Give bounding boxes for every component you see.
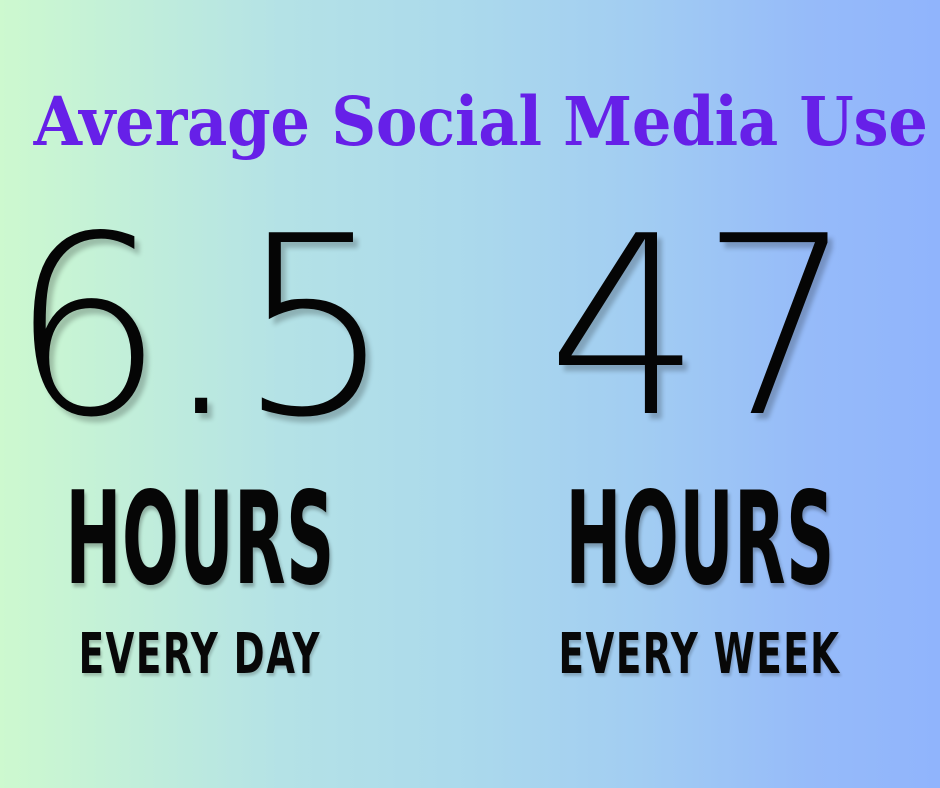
title-container: Average Social Media Use	[0, 88, 940, 155]
stat-unit-weekly: HOURS	[565, 493, 834, 588]
stat-value-weekly: 47	[547, 232, 852, 425]
stats-row: 6.5 HOURS EVERY DAY 47 HOURS EVERY WEEK	[0, 232, 940, 679]
stat-value-daily: 6.5	[10, 232, 391, 425]
stat-block-weekly: 47 HOURS EVERY WEEK	[500, 232, 900, 679]
stat-unit-daily: HOURS	[65, 493, 334, 588]
infographic-canvas: Average Social Media Use 6.5 HOURS EVERY…	[0, 0, 940, 788]
stat-period-weekly: EVERY WEEK	[559, 631, 841, 679]
page-title: Average Social Media Use	[34, 88, 928, 155]
stat-period-daily: EVERY DAY	[79, 631, 321, 679]
stat-block-daily: 6.5 HOURS EVERY DAY	[0, 232, 400, 679]
